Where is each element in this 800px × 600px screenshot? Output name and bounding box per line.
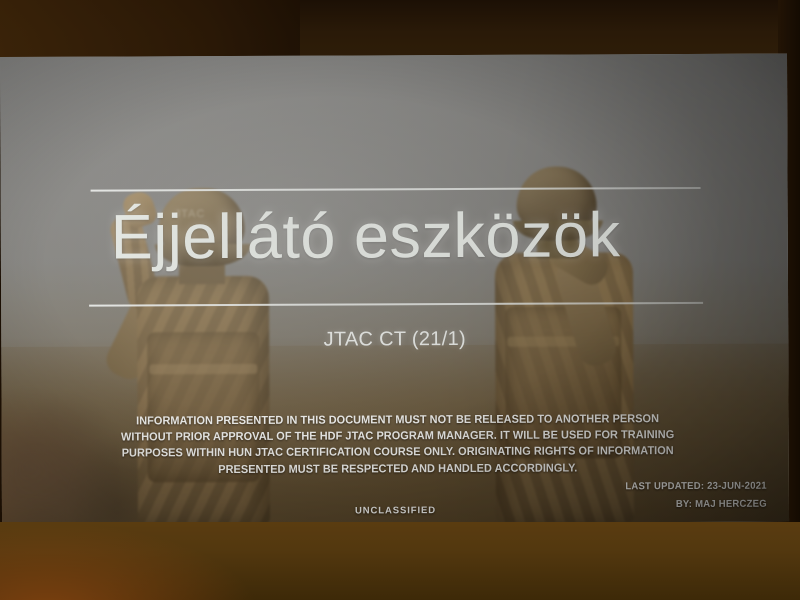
- last-updated-text: LAST UPDATED: 23-JUN-2021: [625, 478, 767, 496]
- slide-title: Éjjellátó eszközök: [111, 202, 711, 271]
- room-wall-light-glow: [0, 522, 260, 600]
- room-wall-upper-left: [0, 0, 300, 60]
- disclaimer-text: INFORMATION PRESENTED IN THIS DOCUMENT M…: [110, 411, 686, 478]
- classification-marking: UNCLASSIFIED: [2, 504, 789, 518]
- title-rule-bottom: [89, 302, 703, 307]
- slide-subtitle: JTAC CT (21/1): [1, 327, 788, 353]
- title-rule-top: [91, 187, 701, 192]
- projected-slide-photograph: JTAC Éjjellátó eszközök JTAC CT (21/1) I…: [0, 0, 800, 600]
- projection-screen: JTAC Éjjellátó eszközök JTAC CT (21/1) I…: [0, 54, 789, 525]
- slide-text-layer: Éjjellátó eszközök JTAC CT (21/1) INFORM…: [0, 54, 789, 525]
